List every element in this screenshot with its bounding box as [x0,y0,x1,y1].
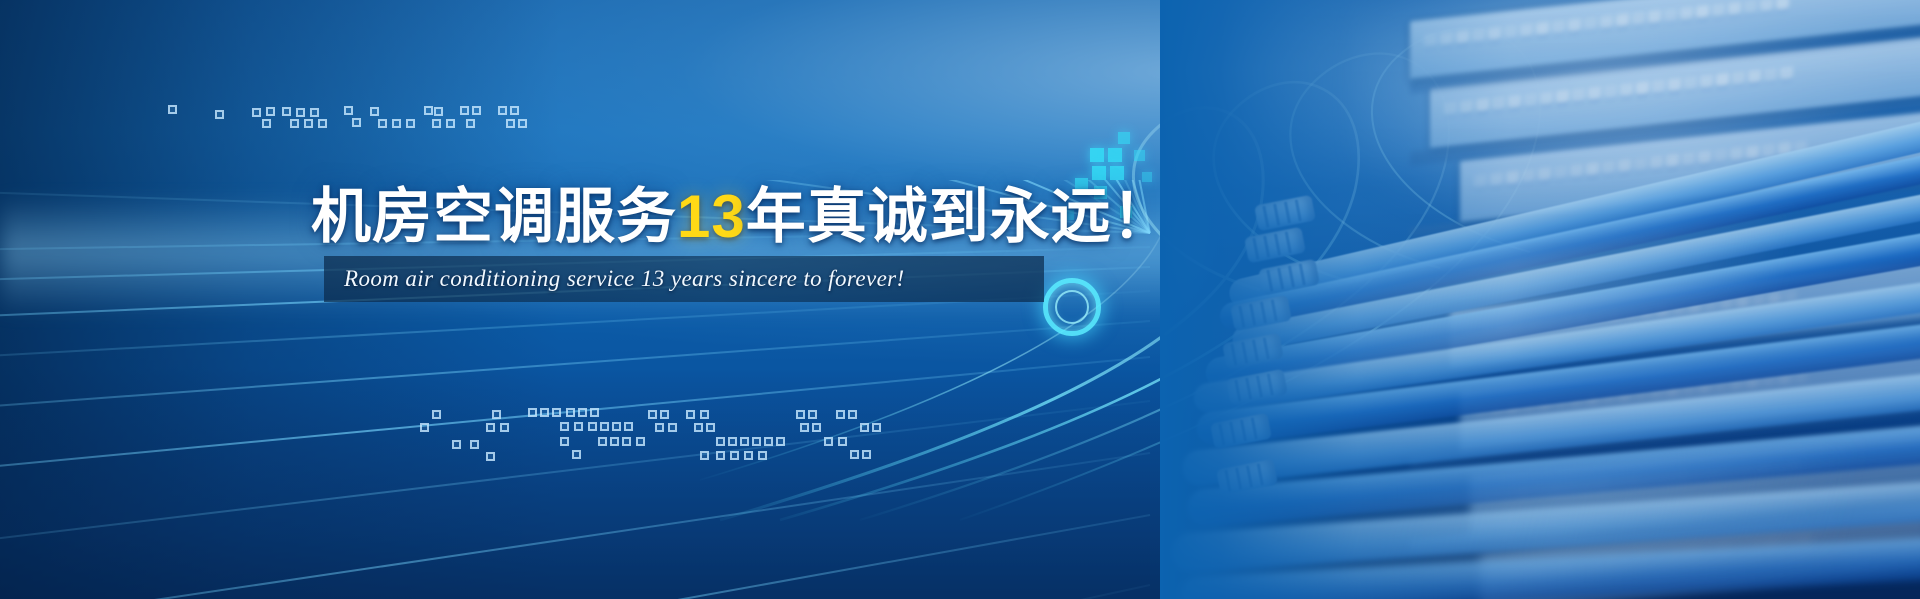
rack-port-icon [1512,318,1525,335]
rack-port-icon [1632,12,1645,29]
rack-port-icon [1708,465,1721,482]
server-rack-icon [1410,0,1920,79]
rack-port-icon [1772,459,1785,476]
rack-port-icon [1490,402,1503,419]
rack-port-icon [1524,93,1537,110]
rack-port-icon [1570,164,1583,181]
glow-ring-icon [1043,278,1101,336]
rack-port-icon [1780,66,1793,83]
pixel-square-icon [432,410,441,419]
pixel-square-icon [572,450,581,459]
connector-ridge [1240,419,1247,441]
rack-port-icon [1522,399,1535,416]
rack-port-icon [1464,323,1477,340]
network-cable-icon [1217,147,1920,332]
rack-port-icon [1744,0,1757,17]
rack-port-icon [1556,89,1569,106]
rack-port-icon [1612,475,1625,492]
pixel-square-icon [598,437,607,446]
rack-port-row [1474,370,1807,421]
connector-ridge [1267,373,1274,395]
network-cable-icon [1180,368,1920,487]
rack-port-icon [1564,481,1577,498]
connector-ridge [1249,304,1256,326]
rack-port-icon [1798,534,1811,551]
headline-number: 13 [677,183,746,250]
rack-port-icon [1698,150,1711,167]
rack-port-icon [1480,322,1493,339]
rack-port-icon [1746,145,1759,162]
connector-ridge [1257,463,1264,485]
pixel-square-icon [566,408,575,417]
rack-port-icon [1532,484,1545,501]
connector-ridge [1299,263,1306,285]
server-rack-photo [1160,0,1920,599]
rack-port-icon [1766,538,1779,555]
rack-port-icon [1624,307,1637,324]
cable-connector-icon [1230,295,1292,332]
rack-port-icon [1676,469,1689,486]
rack-port-icon [1586,392,1599,409]
rack-port-icon [1588,86,1601,103]
headline-suffix: 年真诚到永远！ [746,183,1173,250]
rack-port-icon [1638,551,1651,568]
rack-port-icon [1460,99,1473,116]
rack-port-icon [1648,10,1661,27]
pixel-square-icon [352,118,361,127]
rack-port-icon [1666,154,1679,171]
rack-port-icon [1794,140,1807,157]
pixel-square-icon [740,437,749,446]
pixel-square-icon [168,105,177,114]
server-rack-icon [1430,36,1920,149]
pixel-square-icon [406,119,415,128]
pixel-square-icon [304,119,313,128]
connector-ridge [1241,342,1248,364]
headline-prefix: 机房空调服务 [311,183,677,250]
pixel-square-icon [838,437,847,446]
rack-port-icon [1670,548,1683,565]
rack-port-icon [1712,3,1725,20]
rack-port-icon [1522,169,1535,186]
pixel-square-icon [590,408,599,417]
pixel-square-icon [290,119,299,128]
connector-ridge [1245,378,1252,400]
pixel-square-icon [500,423,509,432]
connector-ridge [1271,299,1278,321]
cable-connector-icon [1254,195,1316,232]
pixel-square-icon [668,423,677,432]
rack-port-icon [1672,302,1685,319]
pixel-square-icon [518,119,527,128]
rack-port-icon [1714,379,1727,396]
network-cable-icon [1192,275,1920,415]
pixel-square-icon [560,422,569,431]
rack-port-icon [1628,474,1641,491]
rack-port-icon [1668,77,1681,94]
rack-port-icon [1544,315,1557,332]
server-rack-icon [1460,341,1920,452]
connector-ridge [1229,422,1236,444]
connector-ridge [1230,344,1237,366]
rack-port-icon [1496,320,1509,337]
rack-port-icon [1618,159,1631,176]
rack-port-icon [1536,22,1549,39]
rack-port-icon [1750,539,1763,556]
rack-port-icon [1520,23,1533,40]
rack-port-icon [1666,384,1679,401]
rack-port-icon [1740,462,1753,479]
rack-port-icon [1652,79,1665,96]
pixel-square-icon [694,423,703,432]
rack-port-icon [1552,20,1565,37]
connector-ridge [1284,201,1291,223]
rack-port-icon [1554,166,1567,183]
rack-port-row [1494,534,1811,583]
rack-port-icon [1538,167,1551,184]
pixel-square-icon [850,450,859,459]
rack-port-icon [1620,83,1633,100]
pixel-square-icon [716,451,725,460]
rack-port-icon [1506,171,1519,188]
rack-port-icon [1570,394,1583,411]
pixel-square-icon [686,410,695,419]
connector-ridge [1238,306,1245,328]
rack-port-icon [1698,380,1711,397]
rack-port-icon [1650,155,1663,172]
pixel-square-icon [808,410,817,419]
rack-port-icon [1660,470,1673,487]
network-cable-icon [1226,111,1920,311]
cable-connector-icon [1258,259,1320,296]
rack-port-row [1444,66,1793,119]
rack-port-icon [1784,290,1797,307]
rack-port-icon [1724,464,1737,481]
pixel-square-icon [824,437,833,446]
rack-port-icon [1778,372,1791,389]
rack-port-icon [1730,147,1743,164]
rack-port-icon [1516,486,1529,503]
cable-highlight [1160,428,1920,599]
pixel-square-icon [764,437,773,446]
pixel-square-icon [730,451,739,460]
rack-port-icon [1600,15,1613,32]
rack-port-icon [1586,162,1599,179]
rack-port-icon [1778,142,1791,159]
rack-port-icon [1654,550,1667,567]
pixel-square-icon [636,437,645,446]
pixel-square-icon [310,108,319,117]
rack-port-icon [1484,489,1497,506]
rack-port-icon [1584,17,1597,34]
rack-port-row [1474,140,1807,191]
pixel-square-icon [872,423,881,432]
connector-ridge [1234,380,1241,402]
pixel-square-icon [460,106,469,115]
cable-connector-icon [1222,333,1284,370]
rack-port-icon [1504,25,1517,42]
pixel-square-icon [610,437,619,446]
rack-port-icon [1618,389,1631,406]
connector-ridge [1266,270,1273,292]
pixel-square-icon [574,422,583,431]
rack-port-icon [1702,545,1715,562]
rack-port-icon [1492,96,1505,113]
pixel-square-icon [560,437,569,446]
connector-ridge [1295,199,1302,221]
network-cable-icon [1230,188,1920,355]
pixel-square-icon [1090,148,1104,162]
cable-connector-icon [1244,227,1306,264]
rack-separator [1410,24,1920,94]
connector-ridge [1224,470,1231,492]
rack-port-icon [1528,317,1541,334]
rack-port-icon [1748,69,1761,86]
server-rack-icon [1460,111,1920,222]
rack-port-icon [1440,32,1453,49]
pixel-square-icon [424,106,433,115]
pixel-square-icon [600,422,609,431]
rack-port-icon [1634,387,1647,404]
pixel-square-icon [612,422,621,431]
connector-ridge [1252,238,1259,260]
pixel-square-icon [296,108,305,117]
pixel-square-icon [660,410,669,419]
pixel-square-icon [648,410,657,419]
rack-separator [1410,96,1920,166]
rack-port-icon [1788,457,1801,474]
rack-port-icon [1768,292,1781,309]
rack-port-icon [1714,149,1727,166]
connector-ridge [1251,417,1258,439]
pixel-square-icon [470,440,479,449]
rack-port-icon [1510,565,1523,582]
rack-port-icon [1782,536,1795,553]
pixel-square-icon [452,440,461,449]
pixel-square-icon [370,107,379,116]
pixel-square-icon [266,107,275,116]
rack-port-icon [1500,487,1513,504]
rack-port-icon [1526,563,1539,580]
network-cable-icon [1186,422,1920,529]
connector-ridge [1218,424,1225,446]
rack-port-icon [1680,7,1693,24]
pixel-square-icon [796,410,805,419]
rack-port-icon [1634,157,1647,174]
pixel-square-icon [446,119,455,128]
rack-separator [1410,484,1920,554]
rack-port-icon [1622,553,1635,570]
connector-ridge [1262,206,1269,228]
rack-port-icon [1776,0,1789,14]
connector-ridge [1263,236,1270,258]
pixel-square-icon [716,437,725,446]
rack-port-icon [1730,377,1743,394]
photo-haze [1360,0,1920,280]
rack-port-icon [1474,404,1487,421]
rack-port-icon [1572,88,1585,105]
pixel-square-icon [588,422,597,431]
pixel-square-icon [655,423,664,432]
connector-ridge [1274,233,1281,255]
rack-port-icon [1636,81,1649,98]
rack-port-icon [1616,13,1629,30]
pixel-square-icon [728,437,737,446]
pixel-square-icon [486,423,495,432]
pixel-square-icon [848,410,857,419]
server-rack-icon [1450,261,1920,369]
rack-separator [1410,316,1920,386]
rack-separator [1410,400,1920,470]
rack-port-icon [1734,541,1747,558]
rack-port-icon [1542,561,1555,578]
rack-port-row [1424,0,1789,51]
connector-ridge [1273,204,1280,226]
rack-port-icon [1686,546,1699,563]
pixel-square-icon [752,437,761,446]
rack-port-icon [1540,91,1553,108]
connector-ridge [1263,337,1270,359]
connector-ridge [1252,339,1259,361]
rack-port-icon [1508,94,1521,111]
pixel-square-icon [1134,150,1145,161]
rack-port-icon [1650,385,1663,402]
rack-port-icon [1554,396,1567,413]
pixel-square-icon [860,423,869,432]
pixel-square-icon [578,408,587,417]
pixel-square-icon [744,451,753,460]
pixel-square-icon [472,106,481,115]
rack-port-icon [1456,30,1469,47]
rack-port-icon [1682,152,1695,169]
rack-port-icon [1746,375,1759,392]
rack-port-icon [1538,397,1551,414]
pixel-square-icon [528,408,537,417]
pixel-square-icon [506,119,515,128]
rack-port-icon [1718,543,1731,560]
server-rack-icon [1470,428,1920,536]
pixel-square-icon [706,423,715,432]
cable-highlight [1160,183,1920,407]
rack-port-icon [1764,67,1777,84]
rack-port-icon [1762,374,1775,391]
connector-ridge [1260,301,1267,323]
photo-color-cast [1160,0,1920,599]
cable-connector-icon [1210,413,1272,450]
rack-port-icon [1606,555,1619,572]
pixel-square-icon [758,451,767,460]
rack-port-icon [1736,295,1749,312]
pixel-square-icon [252,108,261,117]
pixel-square-icon [420,423,429,432]
rack-port-icon [1688,300,1701,317]
rack-port-icon [1568,18,1581,35]
connector-ridge [1277,268,1284,290]
server-rack-icon [1480,506,1920,599]
pixel-square-icon [282,107,291,116]
pixel-square-icon [344,106,353,115]
pixel-square-icon [486,452,495,461]
rack-port-icon [1602,391,1615,408]
hero-banner: 机房空调服务13年真诚到永远！ Room air conditioning se… [0,0,1920,599]
rack-port-icon [1720,297,1733,314]
pixel-square-icon [492,410,501,419]
pixel-square-icon [622,437,631,446]
pixel-square-icon [215,110,224,119]
rack-port-icon [1474,174,1487,191]
pixel-square-icon [1118,132,1130,144]
cable-connector-icon [1226,369,1288,406]
rack-port-icon [1794,370,1807,387]
page-subtitle: Room air conditioning service 13 years s… [344,262,1034,296]
pixel-square-icon [466,119,475,128]
connector-ridge [1246,465,1253,487]
rack-port-icon [1640,305,1653,322]
cable-connector-icon [1216,459,1278,496]
network-cable-icon [1177,535,1920,599]
connector-ridge [1256,375,1263,397]
rack-port-icon [1580,479,1593,496]
rack-port-icon [1490,172,1503,189]
rack-port-icon [1682,382,1695,399]
rack-port-icon [1604,84,1617,101]
rack-port-icon [1762,144,1775,161]
rack-port-icon [1596,477,1609,494]
pixel-square-icon [262,119,271,128]
pixel-square-icon [700,410,709,419]
rack-port-icon [1732,71,1745,88]
rack-port-icon [1760,0,1773,16]
rack-port-icon [1716,72,1729,89]
rack-port-icon [1700,74,1713,91]
rack-port-icon [1476,98,1489,115]
rack-port-icon [1756,460,1769,477]
pixel-square-icon [510,106,519,115]
rack-port-icon [1590,556,1603,573]
pixel-square-icon [812,423,821,432]
rack-port-icon [1558,560,1571,577]
pixel-square-icon [540,408,549,417]
pixel-square-icon [700,451,709,460]
network-cable-icon [1170,478,1920,574]
rack-port-icon [1494,566,1507,583]
network-cable-icon [1195,319,1920,448]
rack-port-icon [1728,2,1741,19]
connector-ridge [1285,231,1292,253]
pixel-square-icon [1108,148,1122,162]
rack-port-row [1464,290,1797,341]
network-cable-icon [1203,225,1920,392]
page-title: 机房空调服务13年真诚到永远！ [311,168,1173,255]
rack-port-icon [1592,310,1605,327]
rack-port-icon [1602,161,1615,178]
connector-ridge [1235,468,1242,490]
rack-separator [1410,172,1920,242]
pixel-square-icon [432,119,441,128]
rack-port-icon [1692,467,1705,484]
rack-port-icon [1444,101,1457,118]
pixel-square-icon [434,107,443,116]
rack-port-icon [1696,5,1709,22]
pixel-square-icon [378,119,387,128]
rack-port-icon [1576,312,1589,329]
rack-port-icon [1664,8,1677,25]
rack-port-icon [1506,401,1519,418]
connector-ridge [1288,265,1295,287]
rack-port-icon [1644,472,1657,489]
pixel-square-icon [552,408,561,417]
pixel-square-icon [498,106,507,115]
